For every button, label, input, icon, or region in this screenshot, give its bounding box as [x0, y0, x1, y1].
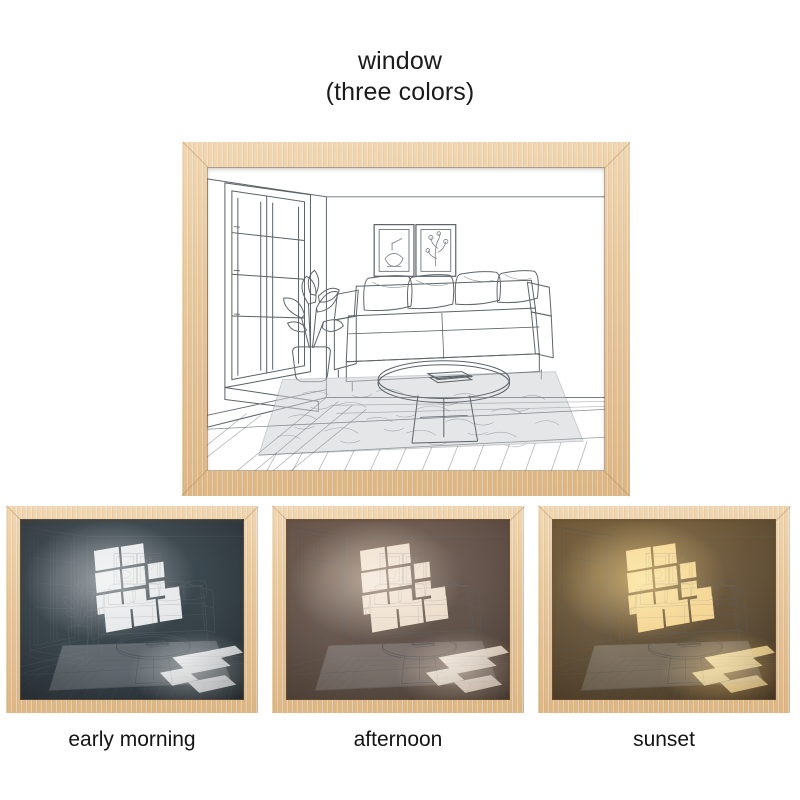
artwork-lit-early-morning: [20, 519, 244, 700]
main-artwork-unlit: [207, 167, 605, 471]
page-title: window (three colors): [0, 46, 800, 108]
main-framed-panel[interactable]: [182, 142, 630, 496]
title-line-1: window: [0, 46, 800, 77]
title-line-2: (three colors): [0, 77, 800, 108]
product-image: window (three colors): [0, 0, 800, 800]
variant-frame-afternoon[interactable]: [272, 506, 524, 713]
caption-afternoon: afternoon: [272, 728, 524, 752]
line-art-scene: [207, 167, 605, 471]
caption-early-morning: early morning: [6, 728, 258, 752]
variant-frame-early-morning[interactable]: [6, 506, 258, 713]
artwork-lit-afternoon: [286, 519, 510, 700]
variant-frame-sunset[interactable]: [538, 506, 790, 713]
caption-sunset: sunset: [538, 728, 790, 752]
artwork-lit-sunset: [552, 519, 776, 700]
